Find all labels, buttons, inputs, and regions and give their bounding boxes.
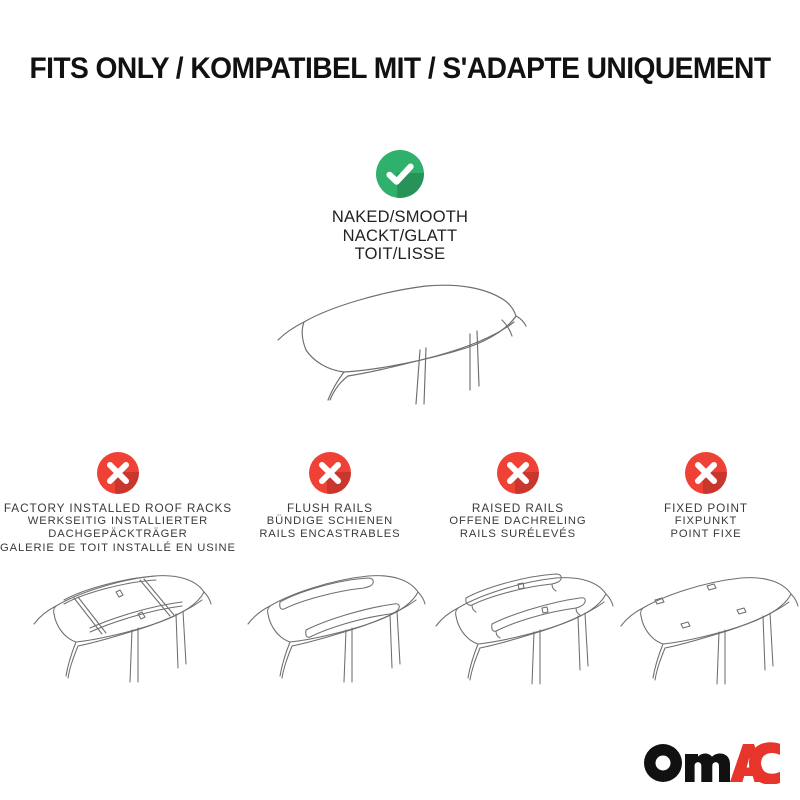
approved-label-de: NACKT/GLATT <box>260 227 540 246</box>
roof-type-label-fr: RAILS SURÉLEVÉS <box>424 528 612 541</box>
approved-label-fr: TOIT/LISSE <box>260 245 540 264</box>
roof-type-label-en: RAISED RAILS <box>424 502 612 515</box>
x-circle-icon <box>685 452 727 494</box>
roof-type-labels: FACTORY INSTALLED ROOF RACKS WERKSEITIG … <box>0 502 236 555</box>
car-roof-fixed-point-figure <box>612 556 800 696</box>
roof-type-label-fr: POINT FIXE <box>612 528 800 541</box>
approved-label-en: NAKED/SMOOTH <box>260 208 540 227</box>
car-roof-naked-smooth-figure <box>258 278 558 406</box>
roof-type-label-fr: RAILS ENCASTRABLES <box>236 528 424 541</box>
roof-type-labels: RAISED RAILS OFFENE DACHRELING RAILS SUR… <box>424 502 612 542</box>
roof-type-labels: FLUSH RAILS BÜNDIGE SCHIENEN RAILS ENCAS… <box>236 502 424 542</box>
omac-logo <box>642 742 782 784</box>
roof-type-label-de: WERKSEITIG INSTALLIERTER <box>0 515 236 528</box>
roof-type-label-de2: DACHGEPÄCKTRÄGER <box>0 528 236 541</box>
roof-type-label-en: FLUSH RAILS <box>236 502 424 515</box>
roof-type-fixed-point: FIXED POINT FIXPUNKT POINT FIXE <box>612 452 800 702</box>
incompatible-roof-types: FACTORY INSTALLED ROOF RACKS WERKSEITIG … <box>0 452 800 702</box>
x-circle-icon <box>309 452 351 494</box>
car-roof-factory-rack-figure <box>0 556 236 696</box>
x-circle-icon <box>497 452 539 494</box>
car-roof-raised-rails-figure <box>424 556 612 696</box>
page-title: FITS ONLY / KOMPATIBEL MIT / S'ADAPTE UN… <box>24 52 776 86</box>
roof-type-label-de: BÜNDIGE SCHIENEN <box>236 515 424 528</box>
check-circle-icon <box>376 150 424 198</box>
roof-type-label-de: FIXPUNKT <box>612 515 800 528</box>
approved-labels: NAKED/SMOOTH NACKT/GLATT TOIT/LISSE <box>260 208 540 264</box>
roof-type-label-en: FIXED POINT <box>612 502 800 515</box>
approved-roof-type: NAKED/SMOOTH NACKT/GLATT TOIT/LISSE <box>260 150 540 264</box>
x-circle-icon <box>97 452 139 494</box>
roof-type-factory-rack: FACTORY INSTALLED ROOF RACKS WERKSEITIG … <box>0 452 236 702</box>
roof-type-label-fr: GALERIE DE TOIT INSTALLÉ EN USINE <box>0 542 236 555</box>
logo-letter-o <box>644 744 682 782</box>
logo-letter-m <box>685 754 730 783</box>
roof-type-labels: FIXED POINT FIXPUNKT POINT FIXE <box>612 502 800 542</box>
roof-type-flush-rails: FLUSH RAILS BÜNDIGE SCHIENEN RAILS ENCAS… <box>236 452 424 702</box>
roof-type-raised-rails: RAISED RAILS OFFENE DACHRELING RAILS SUR… <box>424 452 612 702</box>
roof-type-label-de: OFFENE DACHRELING <box>424 515 612 528</box>
roof-type-label-en: FACTORY INSTALLED ROOF RACKS <box>0 502 236 515</box>
car-roof-flush-rails-figure <box>236 556 424 696</box>
